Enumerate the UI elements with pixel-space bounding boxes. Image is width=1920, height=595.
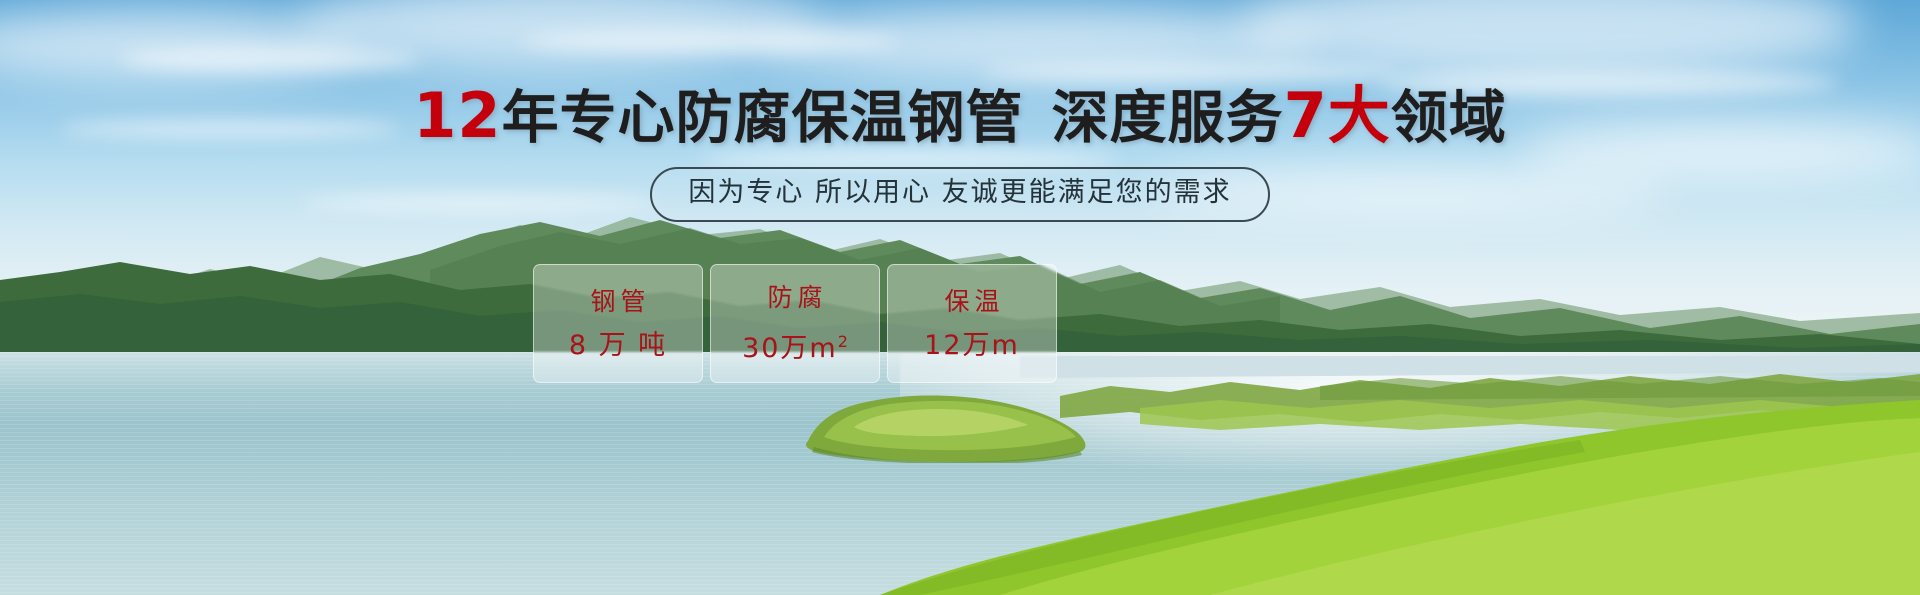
stat-card-group: 钢管 8 万 吨 防腐 30万m2 保温 12万m <box>533 264 1057 383</box>
cloud-shape <box>0 10 360 80</box>
stat-card-value-text: 30万m <box>742 333 838 364</box>
stat-card-label: 保温 <box>939 287 1004 317</box>
cloud-shape <box>300 0 820 70</box>
stat-card-value-superscript: 2 <box>838 332 848 351</box>
cloud-shape <box>700 150 1120 168</box>
cloud-shape <box>760 6 1320 80</box>
headline-number-years: 12 <box>413 79 501 152</box>
stat-card-label: 防腐 <box>762 283 827 313</box>
cloud-shape <box>520 30 900 52</box>
headline-number-fields: 7 <box>1284 79 1328 152</box>
stat-card-value: 30万m2 <box>742 327 848 364</box>
lake-water <box>0 352 1920 595</box>
stat-card-insulation[interactable]: 保温 12万m <box>887 264 1057 383</box>
cloud-shape <box>1240 0 1860 80</box>
headline-text-fields: 领域 <box>1391 85 1507 151</box>
subtitle-pill: 因为专心 所以用心 友诚更能满足您的需求 <box>650 167 1269 222</box>
stat-card-value-text: 12万m <box>924 330 1020 361</box>
headline-text-service: 深度服务 <box>1052 85 1284 151</box>
headline-text-main: 年专心防腐保温钢管 <box>502 85 1024 151</box>
stat-card-value: 12万m <box>924 331 1020 361</box>
page-title: 12年专心防腐保温钢管深度服务7大领域 <box>0 86 1920 148</box>
stat-card-steel-pipe[interactable]: 钢管 8 万 吨 <box>533 264 703 383</box>
stat-card-anticorrosion[interactable]: 防腐 30万m2 <box>710 264 880 383</box>
hero-banner: 12年专心防腐保温钢管深度服务7大领域 因为专心 所以用心 友诚更能满足您的需求… <box>0 0 1920 595</box>
stat-card-value: 8 万 吨 <box>569 331 667 361</box>
subtitle-wrapper: 因为专心 所以用心 友诚更能满足您的需求 <box>0 167 1920 222</box>
stat-card-label: 钢管 <box>585 287 650 317</box>
stat-card-value-text: 8 万 吨 <box>569 330 667 361</box>
headline-measure-word: 大 <box>1328 79 1391 152</box>
cloud-shape <box>120 46 420 72</box>
